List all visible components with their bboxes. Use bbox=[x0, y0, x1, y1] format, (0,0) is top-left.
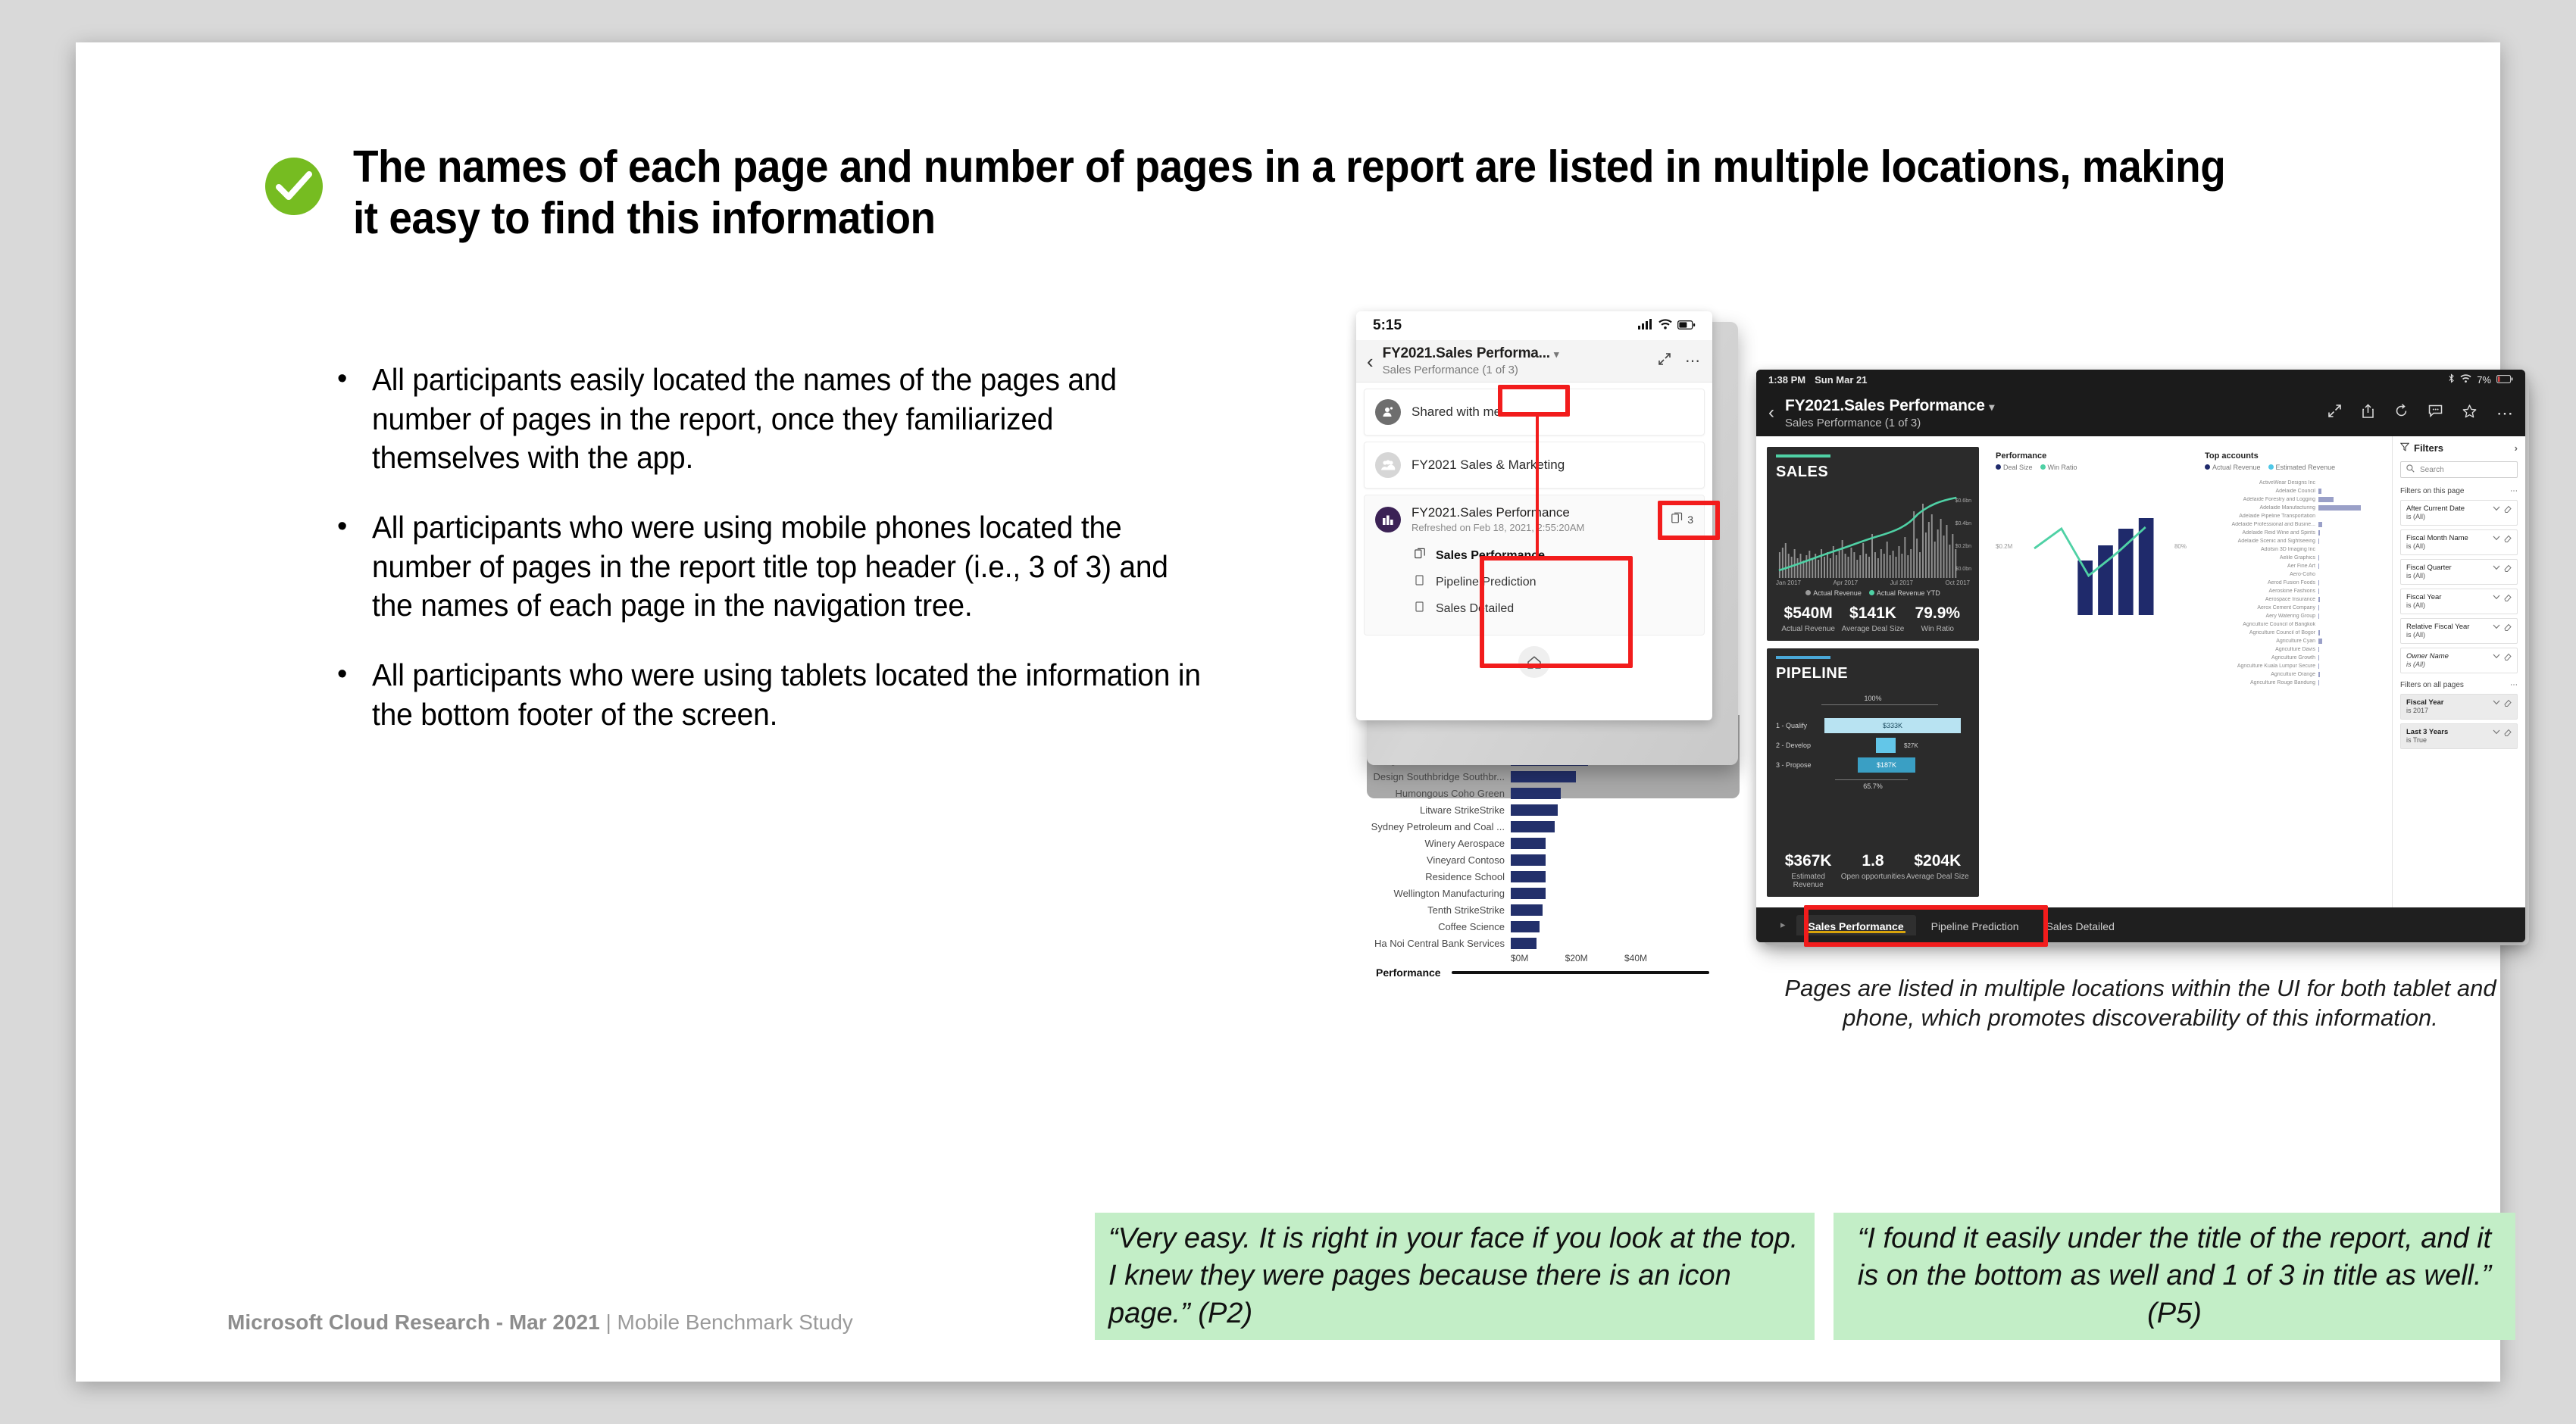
funnel-label: 1 - Qualify bbox=[1776, 722, 1820, 729]
tablet-report-title[interactable]: FY2021.Sales Performance ▾ bbox=[1785, 397, 2317, 415]
kpi-value: 1.8 bbox=[1840, 852, 1905, 870]
kpi-value: 79.9% bbox=[1905, 604, 1970, 623]
bluetooth-icon bbox=[2448, 373, 2455, 386]
top-account-row: Adelaide Reid Wine and Spirits bbox=[2205, 529, 2377, 537]
top-account-row: Adelaide Council bbox=[2205, 487, 2377, 495]
top-account-label: Agriculture Cyan bbox=[2205, 639, 2318, 644]
phone-page-item-pipeline-prediction[interactable]: Pipeline Prediction bbox=[1415, 569, 1693, 595]
chevron-right-icon[interactable]: › bbox=[2515, 442, 2518, 454]
eraser-icon[interactable] bbox=[2504, 535, 2512, 544]
chevron-right-icon[interactable]: ▸ bbox=[1773, 919, 1793, 931]
filters-all-section-label: Filters on all pages bbox=[2400, 681, 2464, 689]
tablet-screen: 1:38 PM Sun Mar 21 7% ‹ bbox=[1756, 370, 2525, 942]
filter-card[interactable]: Last 3 Yearsis True bbox=[2400, 723, 2518, 749]
bar bbox=[1511, 871, 1546, 882]
tablet-page-indicator: Sales Performance (1 of 3) bbox=[1785, 417, 2317, 429]
bar-chart-xtick: $40M bbox=[1624, 953, 1647, 963]
kpi-value: $141K bbox=[1840, 604, 1905, 623]
filter-value: is (All) bbox=[2406, 513, 2425, 520]
filter-value: is (All) bbox=[2406, 631, 2425, 639]
sales-legend-1: Actual Revenue YTD bbox=[1877, 589, 1940, 597]
filter-card[interactable]: After Current Dateis (All) bbox=[2400, 500, 2518, 526]
scroll-indicator[interactable] bbox=[1452, 971, 1709, 974]
tab-pipeline-prediction[interactable]: Pipeline Prediction bbox=[1919, 915, 2031, 935]
sales-legend: Actual Revenue Actual Revenue YTD bbox=[1776, 589, 1970, 597]
battery-icon bbox=[1677, 317, 1696, 334]
cellular-signal-icon bbox=[1638, 317, 1653, 334]
filter-card[interactable]: Fiscal Month Nameis (All) bbox=[2400, 529, 2518, 555]
footer-study-name: Microsoft Cloud Research - Mar 2021 bbox=[227, 1310, 600, 1334]
pipeline-card-title: PIPELINE bbox=[1776, 665, 1970, 682]
top-account-row: Agriculture Rouge Bandung bbox=[2205, 679, 2377, 687]
footer-separator: | bbox=[600, 1310, 617, 1334]
filter-name: Fiscal Year bbox=[2406, 593, 2441, 601]
sales-ytick-1: $0.2bn bbox=[1955, 536, 1971, 558]
page-icon bbox=[1415, 574, 1427, 590]
top-account-row: Adelaide Forestry and Logging bbox=[2205, 495, 2377, 504]
filter-name: Owner Name bbox=[2406, 652, 2449, 660]
bar-chart-row: Sydney Petroleum and Coal ... bbox=[1367, 818, 1740, 835]
phone-home-bar bbox=[1356, 642, 1712, 685]
funnel-bottom-label: 65.7% bbox=[1776, 782, 1970, 790]
top-account-row: Aero-Coho bbox=[2205, 570, 2377, 579]
bar bbox=[1511, 921, 1540, 932]
top-accounts-list: ActiveWear Designs IncAdelaide CouncilAd… bbox=[2205, 479, 2377, 687]
chevron-down-icon[interactable] bbox=[2493, 699, 2500, 708]
tablet-battery-percent: 7% bbox=[2477, 374, 2491, 386]
top-account-label: Adolsin 3D Imaging Inc bbox=[2205, 547, 2318, 552]
bar-label: Residence School bbox=[1367, 871, 1511, 882]
top-accounts-legend-1: Estimated Revenue bbox=[2276, 464, 2336, 471]
kpi-label: Estimated Revenue bbox=[1776, 873, 1840, 889]
sales-area-chart: $0.6bn $0.4bn $0.2bn $0.0bn bbox=[1776, 489, 1970, 578]
bullet-text: All participants easily located the name… bbox=[372, 361, 1202, 478]
filter-name: Last 3 Years bbox=[2406, 728, 2448, 736]
footer-subtitle: Mobile Benchmark Study bbox=[617, 1310, 853, 1334]
top-account-label: Adelaide Pipeline Transportation bbox=[2205, 514, 2318, 519]
funnel-top-label: 100% bbox=[1776, 695, 1970, 702]
filters-search-placeholder: Search bbox=[2420, 466, 2444, 474]
top-account-bar bbox=[2318, 597, 2320, 602]
tab-sales-performance[interactable]: Sales Performance bbox=[1796, 915, 1916, 935]
filters-page-list: After Current Dateis (All)Fiscal Month N… bbox=[2400, 500, 2518, 673]
filter-value: is (All) bbox=[2406, 660, 2425, 668]
chevron-down-icon[interactable] bbox=[2493, 594, 2500, 603]
funnel-row: 3 - Propose $187K bbox=[1776, 755, 1970, 775]
top-account-row: Aelile Graphics bbox=[2205, 554, 2377, 562]
pipeline-accent-bar bbox=[1776, 656, 1830, 659]
top-account-label: Aerospace Insurance bbox=[2205, 597, 2318, 602]
sales-ytick-0: $0.0bn bbox=[1955, 558, 1971, 581]
bar-chart-row: Coffee Science bbox=[1367, 918, 1740, 935]
bar-label: Humongous Coho Green bbox=[1367, 788, 1511, 799]
top-account-label: Aeroskine Fashions bbox=[2205, 589, 2318, 594]
bar-chart-row: Wellington Manufacturing bbox=[1367, 885, 1740, 901]
phone-page-label: Sales Detailed bbox=[1436, 602, 1514, 616]
performance-panel-title: Performance bbox=[1996, 451, 2187, 461]
top-account-row: Adelaide Pipeline Transportation bbox=[2205, 512, 2377, 520]
battery-low-icon bbox=[2496, 374, 2513, 386]
bar-label: Ha Noi Central Bank Services bbox=[1367, 938, 1511, 949]
more-horizontal-icon[interactable]: ⋯ bbox=[2496, 409, 2513, 417]
filter-card[interactable]: Owner Nameis (All) bbox=[2400, 648, 2518, 673]
tablet-status-date: Sun Mar 21 bbox=[1815, 374, 1867, 386]
phone-content-list: Shared with me FY2021 Sales & Marketing bbox=[1356, 383, 1712, 642]
figure-caption: Pages are listed in multiple locations w… bbox=[1746, 974, 2534, 1033]
kpi-label: Average Deal Size bbox=[1905, 873, 1970, 881]
sales-ytick-3: $0.6bn bbox=[1955, 490, 1971, 513]
favorite-star-icon[interactable] bbox=[2462, 404, 2477, 422]
list-item-label: Shared with me bbox=[1411, 404, 1501, 420]
bullet-marker: • bbox=[337, 656, 351, 734]
top-account-bar bbox=[2318, 589, 2319, 594]
list-item[interactable]: Shared with me bbox=[1364, 389, 1705, 436]
filter-card[interactable]: Fiscal Yearis 2017 bbox=[2400, 694, 2518, 720]
top-account-row: ActiveWear Designs Inc bbox=[2205, 479, 2377, 487]
phone-page-count-value: 3 bbox=[1687, 514, 1693, 526]
phone-page-item-sales-performance[interactable]: Sales Performance bbox=[1415, 542, 1693, 569]
phone-page-nav-tree: Sales Performance Pipeline Prediction bbox=[1415, 542, 1693, 622]
top-accounts-legend: Actual Revenue Estimated Revenue bbox=[2205, 464, 2377, 471]
top-account-bar bbox=[2318, 639, 2322, 644]
kpi-average-deal-size: $141K Average Deal Size bbox=[1840, 604, 1905, 633]
filter-funnel-icon bbox=[2400, 442, 2409, 454]
check-circle-icon bbox=[265, 158, 323, 215]
funnel-row: 1 - Qualify $333K bbox=[1776, 716, 1970, 735]
sales-ytick-2: $0.4bn bbox=[1955, 513, 1971, 536]
top-accounts-title: Top accounts bbox=[2205, 451, 2377, 461]
top-account-label: Agriculture Council of Bangkok bbox=[2205, 622, 2318, 627]
top-account-bar bbox=[2318, 605, 2319, 611]
sales-kpi-row: $540M Actual Revenue $141K Average Deal … bbox=[1776, 604, 1970, 633]
phone-report-title[interactable]: FY2021.Sales Performa... ▾ bbox=[1383, 345, 1649, 362]
phone-screen: 5:15 ‹ FY2021.Sales Pe bbox=[1356, 311, 1712, 720]
bullet-marker: • bbox=[337, 508, 351, 626]
chevron-down-icon[interactable]: ▾ bbox=[1989, 401, 1994, 413]
top-account-bar bbox=[2318, 655, 2319, 660]
filter-value: is 2017 bbox=[2406, 707, 2428, 714]
kpi-value: $367K bbox=[1776, 852, 1840, 870]
top-account-label: Aelile Graphics bbox=[2205, 555, 2318, 561]
bar-label: Litware StrikeStrike bbox=[1367, 804, 1511, 816]
top-account-bar bbox=[2318, 564, 2319, 569]
phone-page-label: Pipeline Prediction bbox=[1436, 576, 1537, 589]
top-account-label: Aerod Fusion Foods bbox=[2205, 580, 2318, 586]
top-account-label: Adelaide Council bbox=[2205, 489, 2318, 494]
tablet-status-time: 1:38 PM bbox=[1768, 374, 1805, 386]
top-account-row: Aeroskine Fashions bbox=[2205, 587, 2377, 595]
participant-quote-p5: “I found it easily under the title of th… bbox=[1834, 1213, 2515, 1340]
filters-search-input[interactable]: Search bbox=[2400, 461, 2518, 478]
phone-mockup: 5:15 ‹ FY2021.Sales Pe bbox=[1356, 311, 1750, 773]
performance-combo-chart bbox=[2015, 479, 2171, 615]
top-account-row: Aer Fine Art bbox=[2205, 562, 2377, 570]
top-account-row: Adolsin 3D Imaging Inc bbox=[2205, 545, 2377, 554]
eraser-icon[interactable] bbox=[2504, 729, 2512, 738]
sales-card-title: SALES bbox=[1776, 464, 1970, 481]
bar-label: Vineyard Contoso bbox=[1367, 854, 1511, 866]
sales-card: SALES bbox=[1767, 447, 1979, 641]
eraser-icon[interactable] bbox=[2504, 699, 2512, 708]
bar-chart-row: Tenth StrikeStrike bbox=[1367, 901, 1740, 918]
filters-all-list: Fiscal Yearis 2017Last 3 Yearsis True bbox=[2400, 694, 2518, 749]
eraser-icon[interactable] bbox=[2504, 505, 2512, 514]
top-account-bar bbox=[2318, 505, 2361, 511]
bar-label: Wellington Manufacturing bbox=[1367, 888, 1511, 899]
top-account-row: Agriculture Growth bbox=[2205, 654, 2377, 662]
page-icon bbox=[1415, 601, 1427, 617]
slide-canvas: The names of each page and number of pag… bbox=[76, 42, 2500, 1382]
pages-icon bbox=[1671, 512, 1683, 526]
filter-card[interactable]: Fiscal Quarteris (All) bbox=[2400, 559, 2518, 585]
kpi-estimated-revenue: $367K Estimated Revenue bbox=[1776, 852, 1840, 889]
list-item[interactable]: FY2021 Sales & Marketing bbox=[1364, 442, 1705, 489]
phone-status-bar: 5:15 bbox=[1356, 311, 1712, 340]
funnel-value: $333K bbox=[1824, 718, 1961, 733]
top-account-label: Adelaide Reid Wine and Spirits bbox=[2205, 530, 2318, 536]
more-horizontal-icon[interactable]: ⋯ bbox=[2510, 681, 2518, 689]
chevron-down-icon[interactable] bbox=[2493, 653, 2500, 662]
top-account-row: Aerox Cement Company bbox=[2205, 604, 2377, 612]
page-title: The names of each page and number of pag… bbox=[353, 141, 2244, 245]
participant-quote-p2: “Very easy. It is right in your face if … bbox=[1095, 1213, 1815, 1340]
more-horizontal-icon[interactable]: ⋯ bbox=[1685, 357, 1702, 366]
expand-icon[interactable] bbox=[2327, 404, 2342, 422]
chevron-left-icon[interactable]: ‹ bbox=[1768, 402, 1774, 423]
funnel-value: $187K bbox=[1858, 757, 1915, 773]
funnel-label: 2 - Develop bbox=[1776, 742, 1820, 749]
search-icon bbox=[2406, 464, 2415, 475]
page-active-icon bbox=[1415, 548, 1427, 564]
comment-icon[interactable] bbox=[2428, 404, 2443, 421]
top-account-bar bbox=[2318, 522, 2322, 527]
chevron-down-icon[interactable] bbox=[2493, 535, 2500, 544]
tab-sales-detailed[interactable]: Sales Detailed bbox=[2034, 915, 2127, 935]
top-account-label: Adelaide Professional and Busine... bbox=[2205, 522, 2318, 527]
kpi-value: $204K bbox=[1905, 852, 1970, 870]
top-account-bar bbox=[2318, 489, 2321, 494]
top-account-row: Aery Watering Group bbox=[2205, 612, 2377, 620]
top-account-row: Aerod Fusion Foods bbox=[2205, 579, 2377, 587]
top-account-row: Agriculture Council of Bogor bbox=[2205, 629, 2377, 637]
bar bbox=[1511, 838, 1546, 849]
top-account-bar bbox=[2318, 555, 2319, 561]
bar bbox=[1511, 821, 1555, 832]
top-account-label: Aery Watering Group bbox=[2205, 614, 2318, 619]
bar-label: Winery Aerospace bbox=[1367, 838, 1511, 849]
kpi-label: Open opportunities bbox=[1840, 873, 1905, 881]
phone-chart-title: Performance bbox=[1376, 967, 1441, 979]
slide-header: The names of each page and number of pag… bbox=[265, 141, 2387, 245]
tablet-mockup: 1:38 PM Sun Mar 21 7% ‹ bbox=[1756, 370, 2537, 945]
top-account-label: Agriculture Rouge Bandung bbox=[2205, 680, 2318, 685]
phone-page-item-sales-detailed[interactable]: Sales Detailed bbox=[1415, 595, 1693, 622]
bar bbox=[1511, 904, 1543, 916]
tablet-page-tab-bar: ▸ Sales Performance Pipeline Prediction … bbox=[1756, 907, 2525, 942]
filter-name: Fiscal Month Name bbox=[2406, 534, 2468, 542]
filters-page-section-label: Filters on this page bbox=[2400, 487, 2465, 495]
top-account-bar bbox=[2318, 680, 2319, 685]
phone-status-time: 5:15 bbox=[1373, 317, 1402, 334]
chevron-down-icon[interactable] bbox=[2493, 564, 2500, 573]
sales-accent-bar bbox=[1776, 454, 1830, 457]
top-accounts-panel: Top accounts Actual Revenue Estimated Re… bbox=[2203, 447, 2381, 897]
bar-chart-row: Winery Aerospace bbox=[1367, 835, 1740, 851]
chevron-down-icon[interactable] bbox=[2493, 729, 2500, 738]
dashboard-area: SALES bbox=[1756, 436, 2392, 907]
filter-value: is True bbox=[2406, 736, 2427, 744]
bullet-text: All participants who were using mobile p… bbox=[372, 508, 1202, 626]
kpi-win-ratio: 79.9% Win Ratio bbox=[1905, 604, 1970, 633]
performance-legend: Deal Size Win Ratio bbox=[1996, 464, 2187, 471]
tablet-report-canvas: SALES bbox=[1756, 436, 2525, 907]
bar-label: Sydney Petroleum and Coal ... bbox=[1367, 821, 1511, 832]
chevron-down-icon[interactable]: ▾ bbox=[1554, 348, 1558, 360]
bar-chart-row: Vineyard Contoso bbox=[1367, 851, 1740, 868]
sales-legend-0: Actual Revenue bbox=[1813, 589, 1862, 597]
slide-footer: Microsoft Cloud Research - Mar 2021 | Mo… bbox=[227, 1310, 853, 1335]
workspace-group-icon bbox=[1375, 452, 1401, 478]
top-account-row: Agriculture Kuala Lumpur Secure bbox=[2205, 662, 2377, 670]
pipeline-card: PIPELINE 100% 1 - Qualify $333K 2 - Deve… bbox=[1767, 648, 1979, 897]
filter-name: Fiscal Year bbox=[2406, 698, 2443, 707]
kpi-value: $540M bbox=[1776, 604, 1840, 623]
top-account-label: Agriculture Davis bbox=[2205, 647, 2318, 652]
phone-page-count: 3 bbox=[1671, 512, 1693, 526]
performance-legend-0: Deal Size bbox=[2003, 464, 2033, 471]
kpi-open-opportunities: 1.8 Open opportunities bbox=[1840, 852, 1905, 889]
bar bbox=[1511, 854, 1546, 866]
share-icon[interactable] bbox=[2362, 404, 2374, 422]
bar-chart-row: Litware StrikeStrike bbox=[1367, 801, 1740, 818]
performance-panel: Performance Deal Size Win Ratio $0.2M bbox=[1988, 447, 2194, 897]
eraser-icon[interactable] bbox=[2504, 653, 2512, 662]
top-account-row: Aerospace Insurance bbox=[2205, 595, 2377, 604]
bar bbox=[1511, 788, 1561, 799]
top-account-label: Agriculture Council of Bogor bbox=[2205, 630, 2318, 635]
more-horizontal-icon[interactable]: ⋯ bbox=[2510, 487, 2518, 495]
chevron-down-icon[interactable] bbox=[2493, 505, 2500, 514]
kpi-actual-revenue: $540M Actual Revenue bbox=[1776, 604, 1840, 633]
refresh-icon[interactable] bbox=[2394, 404, 2409, 422]
sales-x-axis: Jan 2017 Apr 2017 Jul 2017 Oct 2017 bbox=[1776, 579, 1970, 586]
bar-chart-xtick: $20M bbox=[1565, 953, 1588, 963]
top-account-label: Aero-Coho bbox=[2205, 572, 2318, 577]
bullet-text: All participants who were using tablets … bbox=[372, 656, 1202, 734]
filter-value: is (All) bbox=[2406, 572, 2425, 579]
filters-title: Filters bbox=[2414, 442, 2443, 454]
filters-page-section-header: Filters on this page ⋯ bbox=[2400, 487, 2518, 495]
kpi-label: Win Ratio bbox=[1905, 625, 1970, 633]
top-account-row: Adelaide Scenic and Sightseeing bbox=[2205, 537, 2377, 545]
filter-name: After Current Date bbox=[2406, 504, 2465, 513]
top-account-label: Agriculture Growth bbox=[2205, 655, 2318, 660]
report-icon bbox=[1375, 507, 1401, 532]
wifi-icon bbox=[1658, 317, 1672, 334]
filters-pane: Filters › Search Filters on this page ⋯ bbox=[2392, 436, 2525, 907]
sales-xtick-1: Apr 2017 bbox=[1834, 579, 1858, 586]
wifi-icon bbox=[2460, 374, 2471, 386]
top-account-row: Adelaide Professional and Busine... bbox=[2205, 520, 2377, 529]
funnel-value: $27K bbox=[1904, 742, 1918, 749]
eraser-icon[interactable] bbox=[2504, 594, 2512, 603]
tablet-status-bar: 1:38 PM Sun Mar 21 7% bbox=[1756, 370, 2525, 389]
funnel-label: 3 - Propose bbox=[1776, 761, 1820, 769]
phone-page-label: Sales Performance bbox=[1436, 549, 1545, 563]
top-account-label: Agriculture Orange bbox=[2205, 672, 2318, 677]
list-item-label: FY2021 Sales & Marketing bbox=[1411, 457, 1565, 473]
bar-label: Coffee Science bbox=[1367, 921, 1511, 932]
performance-ytick-left: $0.2M bbox=[1996, 543, 2012, 550]
top-account-row: Agriculture Council of Bangkok bbox=[2205, 620, 2377, 629]
home-icon[interactable] bbox=[1518, 646, 1550, 678]
top-account-label: Adelaide Manufacturing bbox=[2205, 505, 2318, 511]
top-account-row: Agriculture Davis bbox=[2205, 645, 2377, 654]
list-item: • All participants who were using tablet… bbox=[337, 656, 1246, 734]
bar-chart-row: Ha Noi Central Bank Services bbox=[1367, 935, 1740, 951]
expand-icon[interactable] bbox=[1658, 352, 1671, 370]
top-account-bar bbox=[2318, 614, 2319, 619]
kpi-label: Actual Revenue bbox=[1776, 625, 1840, 633]
filters-all-section-header: Filters on all pages ⋯ bbox=[2400, 681, 2518, 689]
kpi-label: Average Deal Size bbox=[1840, 625, 1905, 633]
top-account-label: Aerox Cement Company bbox=[2205, 605, 2318, 611]
bar-chart-xtick: $0M bbox=[1511, 953, 1528, 963]
phone-report-header: ‹ FY2021.Sales Performa... ▾ Sales Perfo… bbox=[1356, 340, 1712, 383]
pipeline-kpi-row: $367K Estimated Revenue 1.8 Open opportu… bbox=[1776, 852, 1970, 889]
top-account-bar bbox=[2318, 672, 2320, 677]
shared-person-icon bbox=[1375, 399, 1401, 425]
filter-card[interactable]: Relative Fiscal Yearis (All) bbox=[2400, 618, 2518, 644]
pipeline-funnel-chart: 1 - Qualify $333K 2 - Develop $27K bbox=[1776, 716, 1970, 775]
sales-xtick-2: Jul 2017 bbox=[1890, 579, 1913, 586]
filter-name: Fiscal Quarter bbox=[2406, 564, 2452, 572]
top-account-label: Aer Fine Art bbox=[2205, 564, 2318, 569]
bar-chart-row: Residence School bbox=[1367, 868, 1740, 885]
sales-xtick-0: Jan 2017 bbox=[1776, 579, 1801, 586]
filters-header: Filters › bbox=[2400, 442, 2518, 454]
bar bbox=[1511, 888, 1546, 899]
filter-value: is (All) bbox=[2406, 601, 2425, 609]
top-account-row: Adelaide Manufacturing bbox=[2205, 504, 2377, 512]
phone-report-title-text: FY2021.Sales Performa... bbox=[1383, 345, 1550, 361]
eraser-icon[interactable] bbox=[2504, 623, 2512, 632]
top-account-bar bbox=[2318, 580, 2319, 586]
performance-ytick-right: 80% bbox=[2174, 543, 2187, 550]
bullet-list: • All participants easily located the na… bbox=[337, 361, 1246, 764]
chevron-down-icon[interactable] bbox=[2493, 623, 2500, 632]
tablet-report-header: ‹ FY2021.Sales Performance ▾ Sales Perfo… bbox=[1756, 389, 2525, 436]
bar-label: Tenth StrikeStrike bbox=[1367, 904, 1511, 916]
bullet-marker: • bbox=[337, 361, 351, 478]
list-item: • All participants easily located the na… bbox=[337, 361, 1246, 478]
phone-report-card: FY2021.Sales Performance Refreshed on Fe… bbox=[1364, 495, 1705, 635]
top-account-bar bbox=[2318, 530, 2320, 536]
performance-legend-1: Win Ratio bbox=[2048, 464, 2077, 471]
eraser-icon[interactable] bbox=[2504, 564, 2512, 573]
top-account-label: Adelaide Forestry and Logging bbox=[2205, 497, 2318, 502]
chevron-left-icon[interactable]: ‹ bbox=[1367, 351, 1374, 371]
top-account-row: Agriculture Orange bbox=[2205, 670, 2377, 679]
top-account-bar bbox=[2318, 630, 2320, 635]
bar bbox=[1511, 804, 1558, 816]
phone-page-indicator: Sales Performance (1 of 3) bbox=[1383, 364, 1649, 376]
filter-value: is (All) bbox=[2406, 542, 2425, 550]
top-account-bar bbox=[2318, 664, 2319, 669]
filter-card[interactable]: Fiscal Yearis (All) bbox=[2400, 589, 2518, 614]
tablet-report-title-text: FY2021.Sales Performance bbox=[1785, 397, 1985, 414]
top-account-bar bbox=[2318, 647, 2319, 652]
